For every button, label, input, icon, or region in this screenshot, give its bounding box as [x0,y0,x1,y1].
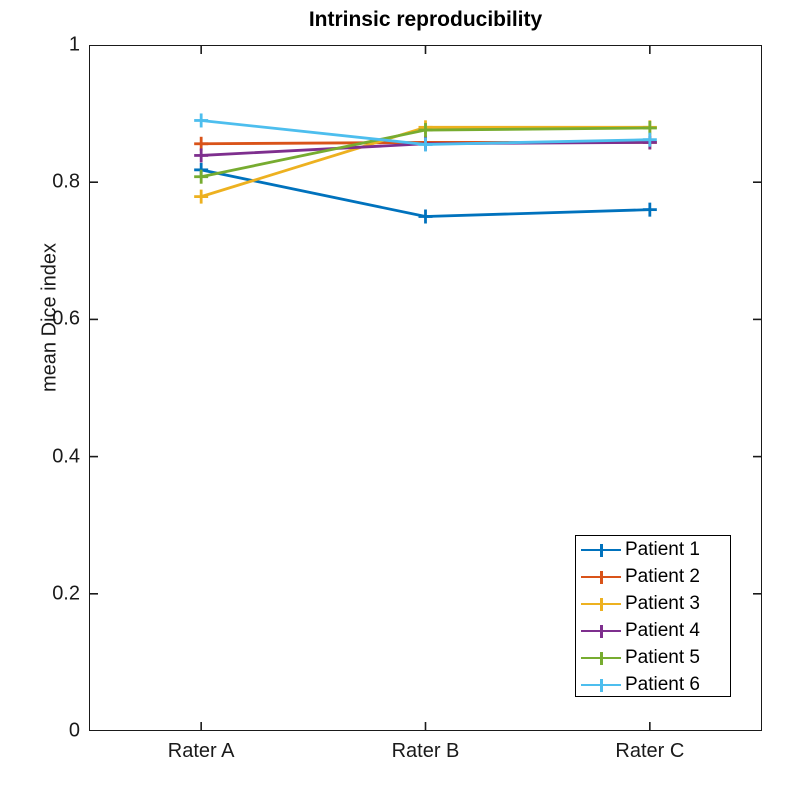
legend-line-swatch [581,543,621,557]
legend-item-patient-5[interactable]: Patient 5 [576,644,730,671]
chart-legend[interactable]: Patient 1Patient 2Patient 3Patient 4Pati… [575,535,731,697]
legend-plus-marker-icon [600,625,603,638]
legend-label: Patient 2 [625,567,700,586]
legend-label: Patient 3 [625,594,700,613]
chart-title: Intrinsic reproducibility [89,8,762,32]
y-tick-label: 0.2 [10,582,80,605]
legend-label: Patient 4 [625,621,700,640]
legend-line-swatch [581,651,621,665]
legend-item-patient-1[interactable]: Patient 1 [576,536,730,563]
x-tick-label: Rater C [570,740,730,763]
y-tick-label: 0.8 [10,171,80,194]
y-tick-label: 1 [10,34,80,57]
legend-plus-marker-icon [600,652,603,665]
legend-plus-marker-icon [600,544,603,557]
y-tick-label: 0.4 [10,445,80,468]
legend-label: Patient 1 [625,540,700,559]
legend-item-patient-3[interactable]: Patient 3 [576,590,730,617]
legend-label: Patient 5 [625,648,700,667]
legend-line-swatch [581,678,621,692]
legend-line-swatch [581,624,621,638]
legend-plus-marker-icon [600,571,603,584]
legend-line-swatch [581,570,621,584]
legend-label: Patient 6 [625,675,700,694]
x-tick-label: Rater B [346,740,506,763]
legend-plus-marker-icon [600,679,603,692]
legend-line-swatch [581,597,621,611]
y-tick-label: 0 [10,720,80,743]
legend-plus-marker-icon [600,598,603,611]
matlab-figure: Intrinsic reproducibility mean Dice inde… [0,0,801,795]
legend-item-patient-2[interactable]: Patient 2 [576,563,730,590]
legend-item-patient-4[interactable]: Patient 4 [576,617,730,644]
y-tick-label: 0.6 [10,308,80,331]
x-tick-label: Rater A [121,740,281,763]
legend-item-patient-6[interactable]: Patient 6 [576,671,730,698]
